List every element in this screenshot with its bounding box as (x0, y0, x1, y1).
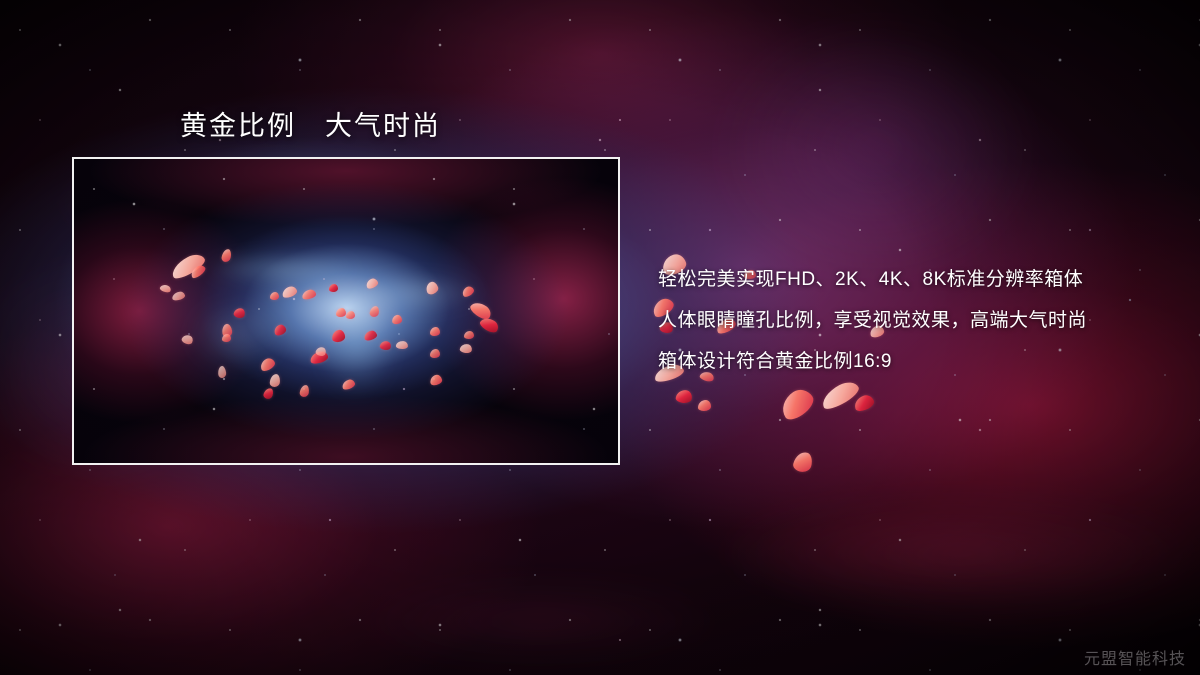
body-line-2: 人体眼睛瞳孔比例，享受视觉效果，高端大气时尚 (658, 300, 1178, 341)
petal (346, 311, 355, 319)
petal (336, 308, 346, 317)
framed-preview-image (72, 157, 620, 465)
body-line-1: 轻松完美实现FHD、2K、4K、8K标准分辨率箱体 (658, 259, 1178, 300)
petal (698, 400, 711, 411)
slide-canvas: 黄金比例 大气时尚 轻松完美实现FHD、2K、4K、8K标准分辨率箱体 人体眼睛… (0, 0, 1200, 675)
body-line-3: 箱体设计符合黄金比例16:9 (658, 341, 1178, 382)
preview-filament-layer (74, 159, 618, 463)
watermark: 元盟智能科技 (1084, 645, 1186, 669)
petal (430, 327, 440, 336)
petal (222, 334, 231, 342)
petal (329, 284, 338, 292)
page-title: 黄金比例 大气时尚 (180, 104, 441, 143)
petal (270, 292, 279, 300)
petal (396, 340, 409, 349)
body-copy: 轻松完美实现FHD、2K、4K、8K标准分辨率箱体 人体眼睛瞳孔比例，享受视觉效… (658, 259, 1178, 382)
petal (464, 331, 474, 339)
petal (430, 349, 440, 358)
